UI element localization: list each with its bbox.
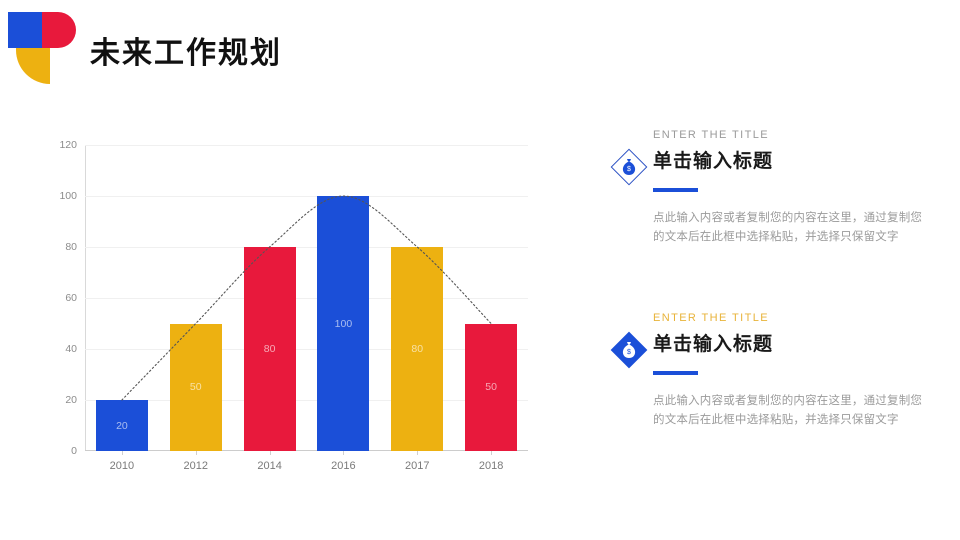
money-bag-glyph: $ [621,341,637,359]
x-axis-tick-mark [122,451,123,455]
y-axis-tick-label: 120 [59,139,77,151]
x-axis-tick-mark [270,451,271,455]
x-axis-tick-mark [343,451,344,455]
y-axis-tick-label: 60 [65,292,77,304]
panel-1-heading: 单击输入标题 [653,149,926,175]
x-axis-tick-label: 2014 [257,460,281,472]
trend-line-path [122,196,491,400]
logo-yellow-quarter [16,48,50,84]
y-axis-tick-label: 0 [71,445,77,457]
money-bag-icon: $ [612,333,646,367]
panel-1-rule [653,188,698,192]
panel-1-eyebrow: ENTER THE TITLE [653,128,926,142]
bar-chart: 020406080100120 2050801008050 2010201220… [48,130,548,470]
x-axis-tick-label: 2018 [479,460,503,472]
money-bag-icon: $ [612,150,646,184]
logo-blue-square [8,12,42,48]
y-axis-tick-label: 80 [65,241,77,253]
panel-1-body: ENTER THE TITLE 单击输入标题 点此输入内容或者复制您的内容在这里… [653,128,926,247]
money-bag-glyph: $ [621,158,637,176]
y-axis-tick-label: 20 [65,394,77,406]
x-axis-tick-label: 2016 [331,460,355,472]
logo-red-quarter [42,12,76,48]
x-axis-tick-label: 2010 [110,460,134,472]
slide-canvas: 未来工作规划 020406080100120 2050801008050 201… [0,0,960,540]
panel-1-text: 点此输入内容或者复制您的内容在这里，通过复制您的文本后在此框中选择粘贴，并选择只… [653,209,926,247]
panel-2-text: 点此输入内容或者复制您的内容在这里，通过复制您的文本后在此框中选择粘贴，并选择只… [653,392,926,430]
brand-logo [8,12,80,96]
panel-2-body: ENTER THE TITLE 单击输入标题 点此输入内容或者复制您的内容在这里… [653,311,926,430]
page-title: 未来工作规划 [90,34,282,74]
x-axis-tick-mark [491,451,492,455]
chart-plot-area: 020406080100120 2050801008050 2010201220… [85,145,528,451]
y-axis-tick-label: 100 [59,190,77,202]
panel-2-rule [653,371,698,375]
x-axis-tick-mark [196,451,197,455]
y-axis-tick-label: 40 [65,343,77,355]
panel-2-eyebrow: ENTER THE TITLE [653,311,926,325]
svg-text:$: $ [627,349,631,356]
svg-text:$: $ [627,166,631,173]
x-axis-tick-label: 2017 [405,460,429,472]
trend-line [85,145,528,451]
x-axis-tick-mark [417,451,418,455]
x-axis-tick-label: 2012 [184,460,208,472]
panel-2-heading: 单击输入标题 [653,332,926,358]
